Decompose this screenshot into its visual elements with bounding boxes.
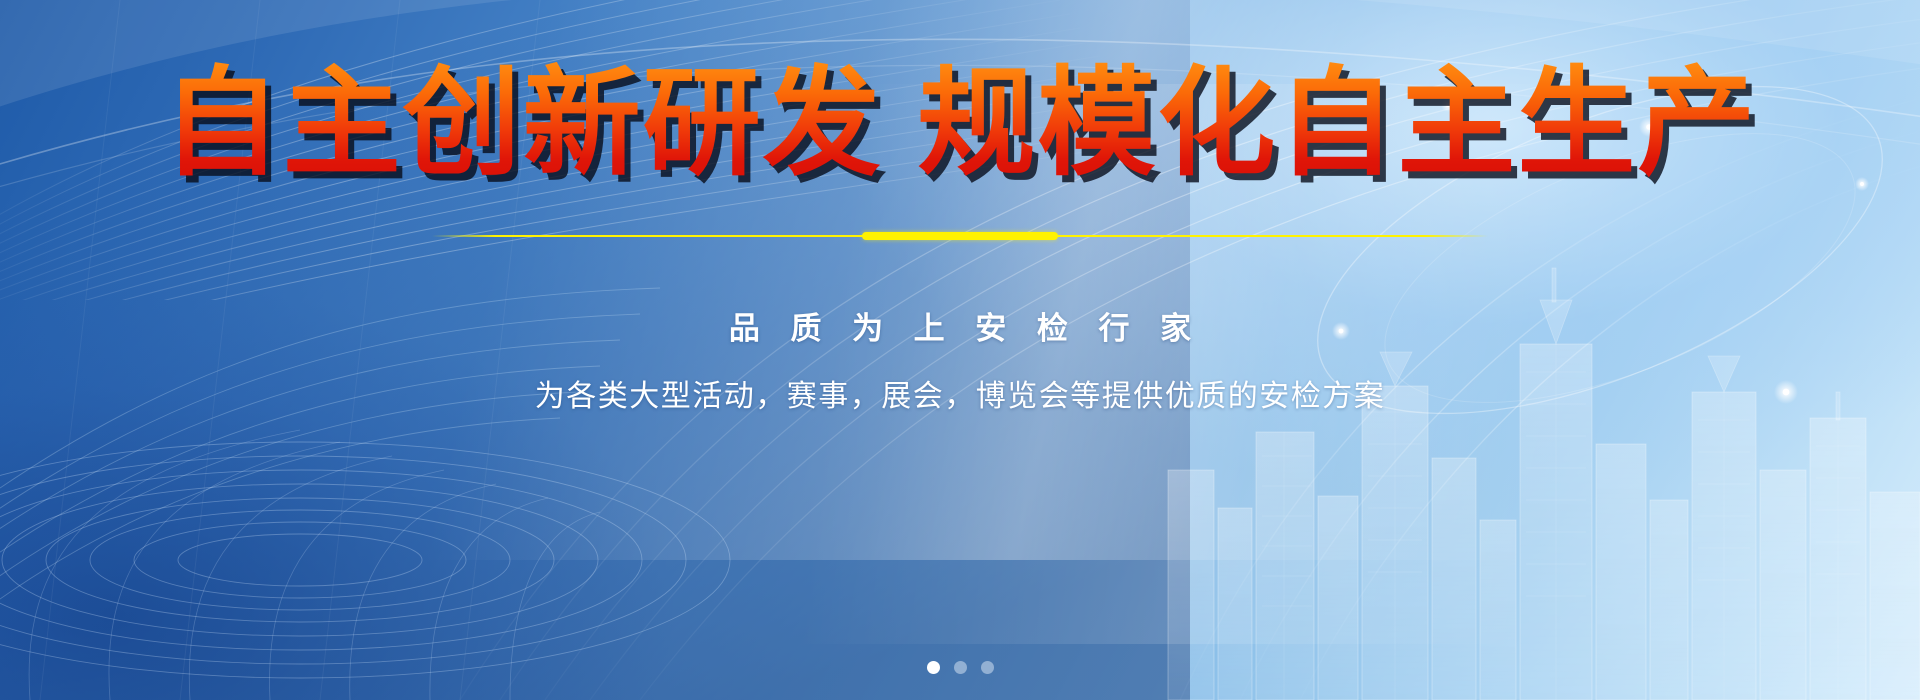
carousel-dot-2[interactable] [954,661,967,674]
carousel-dot-1[interactable] [927,661,940,674]
divider-thick-segment [862,232,1058,240]
banner-description: 为各类大型活动，赛事，展会，博览会等提供优质的安检方案 [535,371,1386,415]
carousel-dots[interactable] [0,661,1920,674]
divider [432,231,1488,241]
banner-content: 自主创新研发 规模化自主生产 品 质 为 上 安 检 行 家 为各类大型活动，赛… [0,0,1920,700]
banner-headline: 自主创新研发 规模化自主生产 [153,62,1768,193]
carousel-dot-3[interactable] [981,661,994,674]
banner-slogan: 品 质 为 上 安 检 行 家 [718,303,1202,348]
hero-banner: 自主创新研发 规模化自主生产 品 质 为 上 安 检 行 家 为各类大型活动，赛… [0,0,1920,700]
